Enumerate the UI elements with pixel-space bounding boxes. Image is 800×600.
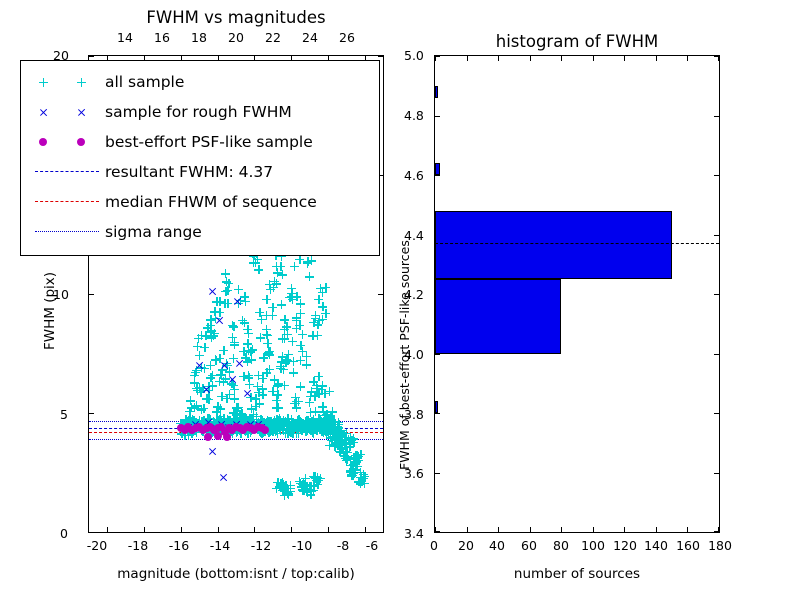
left-ytick-1: 5 <box>60 407 68 422</box>
left-yaxis-label: FWHM (pix) <box>42 272 58 350</box>
axis-tick <box>714 294 719 295</box>
axis-tick <box>254 527 255 532</box>
axis-tick <box>624 56 625 61</box>
histogram-bar <box>435 211 672 279</box>
data-point-all-sample <box>257 315 266 324</box>
plus-icon <box>39 78 48 87</box>
legend-item-all-sample: all sample <box>29 67 371 97</box>
right-xtick-7: 140 <box>644 538 668 553</box>
data-point-all-sample <box>268 387 277 396</box>
plus-icon <box>77 78 86 87</box>
data-point-rough-fwhm <box>208 447 217 456</box>
right-ytick-7: 4.8 <box>404 108 424 123</box>
right-ytick-0: 3.4 <box>404 526 424 541</box>
data-point-rough-fwhm <box>233 297 242 306</box>
data-point-all-sample <box>264 348 273 357</box>
axis-tick <box>656 527 657 532</box>
figure-canvas: FWHM vs magnitudes 14 16 18 20 22 24 26 … <box>0 0 800 600</box>
left-xtop-tick-0: 14 <box>117 30 133 45</box>
right-xtick-1: 20 <box>458 538 474 553</box>
data-point-all-sample <box>280 315 289 324</box>
data-point-all-sample <box>296 341 305 350</box>
data-point-rough-fwhm <box>202 385 211 394</box>
axis-tick <box>378 294 383 295</box>
left-xbot-tick-6: -8 <box>337 538 349 553</box>
axis-tick <box>378 56 383 57</box>
circle-marker-icon <box>77 138 85 146</box>
axis-tick <box>378 532 383 533</box>
legend-symbol-plus <box>29 72 105 92</box>
axis-tick <box>530 527 531 532</box>
data-point-rough-fwhm <box>228 375 237 384</box>
data-point-all-sample <box>243 325 252 334</box>
legend-symbol-dashed-red <box>29 192 105 212</box>
legend-item-sigma-range: sigma range <box>29 217 371 247</box>
histogram-bar <box>435 279 561 353</box>
right-histogram-plot <box>434 55 720 533</box>
axis-tick <box>714 531 719 532</box>
axis-tick <box>714 413 719 414</box>
left-xtop-tick-3: 20 <box>228 30 244 45</box>
axis-tick <box>561 56 562 61</box>
data-point-all-sample <box>296 382 305 391</box>
data-point-psf-like <box>214 432 222 440</box>
legend-item-median-fwhm: median FHWM of sequence <box>29 187 371 217</box>
data-point-all-sample <box>272 396 281 405</box>
dashed-line-icon <box>35 171 99 172</box>
data-point-rough-fwhm <box>195 361 204 370</box>
data-point-all-sample <box>195 351 204 360</box>
data-point-all-sample <box>187 403 196 412</box>
right-xtick-5: 100 <box>581 538 605 553</box>
right-ytick-8: 5.0 <box>404 48 424 63</box>
right-xtick-3: 60 <box>521 538 537 553</box>
legend-symbol-dashed-blue <box>29 162 105 182</box>
axis-tick <box>89 294 94 295</box>
data-point-all-sample <box>230 340 239 349</box>
data-point-all-sample <box>265 365 274 374</box>
axis-tick <box>656 56 657 61</box>
left-xtop-tick-6: 26 <box>339 30 355 45</box>
axis-tick <box>144 527 145 532</box>
data-point-all-sample <box>273 268 282 277</box>
axis-tick <box>435 354 440 355</box>
legend-label-3: resultant FWHM: 4.37 <box>105 163 273 181</box>
legend-label-5: sigma range <box>105 223 202 241</box>
legend-label-2: best-effort PSF-like sample <box>105 133 313 151</box>
axis-tick <box>714 56 719 57</box>
data-point-all-sample <box>321 283 330 292</box>
data-point-all-sample <box>289 368 298 377</box>
right-xtick-8: 160 <box>676 538 700 553</box>
left-xbot-tick-2: -16 <box>169 538 189 553</box>
data-point-all-sample <box>314 295 323 304</box>
reference-line <box>435 243 719 244</box>
data-point-rough-fwhm <box>219 473 228 482</box>
data-point-all-sample <box>280 482 289 491</box>
dashdot-line-icon <box>35 231 99 232</box>
axis-tick <box>498 527 499 532</box>
data-point-all-sample <box>268 303 277 312</box>
axis-tick <box>498 56 499 61</box>
data-point-all-sample <box>351 454 360 463</box>
histogram-bar <box>435 86 438 98</box>
left-xtop-tick-2: 18 <box>191 30 207 45</box>
data-point-all-sample <box>302 352 311 361</box>
data-point-rough-fwhm <box>208 287 217 296</box>
axis-tick <box>365 527 366 532</box>
axis-tick <box>687 56 688 61</box>
axis-tick <box>378 413 383 414</box>
data-point-all-sample <box>222 277 231 286</box>
axis-tick <box>593 56 594 61</box>
axis-tick <box>687 527 688 532</box>
dashed-line-icon <box>35 201 99 202</box>
axis-tick <box>435 175 440 176</box>
axis-tick <box>435 116 440 117</box>
data-point-all-sample <box>272 279 281 288</box>
data-point-all-sample <box>305 272 314 281</box>
axis-tick <box>435 531 440 532</box>
legend-label-0: all sample <box>105 73 184 91</box>
axis-tick <box>624 527 625 532</box>
data-point-all-sample <box>307 256 316 265</box>
data-point-all-sample <box>210 329 219 338</box>
right-xaxis-label: number of sources <box>514 566 640 582</box>
data-point-all-sample <box>193 342 202 351</box>
left-xbot-tick-5: -10 <box>292 538 312 553</box>
legend-label-4: median FHWM of sequence <box>105 193 317 211</box>
axis-tick <box>593 527 594 532</box>
axis-tick <box>530 56 531 61</box>
left-ytick-0: 0 <box>60 526 68 541</box>
left-xbot-tick-3: -14 <box>210 538 230 553</box>
axis-tick <box>714 354 719 355</box>
data-point-all-sample <box>318 315 327 324</box>
left-xtop-tick-4: 22 <box>265 30 281 45</box>
data-point-rough-fwhm <box>243 389 252 398</box>
right-xtick-2: 40 <box>489 538 505 553</box>
legend-item-rough-fwhm: sample for rough FWHM <box>29 97 371 127</box>
data-point-all-sample <box>223 299 232 308</box>
left-xtop-tick-5: 24 <box>302 30 318 45</box>
x-marker-icon <box>39 108 48 117</box>
data-point-rough-fwhm <box>215 316 224 325</box>
right-xtick-6: 120 <box>613 538 637 553</box>
legend-symbol-dot <box>29 132 105 152</box>
axis-tick <box>435 413 440 414</box>
axis-tick <box>291 527 292 532</box>
data-point-all-sample <box>310 473 319 482</box>
legend: all sample sample for rough FWHM best-ef… <box>20 60 380 256</box>
data-point-all-sample <box>246 347 255 356</box>
axis-tick <box>89 56 94 57</box>
axis-tick <box>89 413 94 414</box>
data-point-all-sample <box>291 393 300 402</box>
axis-tick <box>467 56 468 61</box>
data-point-all-sample <box>197 405 206 414</box>
axis-tick <box>435 473 440 474</box>
left-panel-title: FWHM vs magnitudes <box>146 8 325 27</box>
legend-symbol-dashdot-blue <box>29 222 105 242</box>
axis-tick <box>435 56 440 57</box>
left-xbot-tick-0: -20 <box>87 538 107 553</box>
circle-marker-icon <box>39 138 47 146</box>
data-point-all-sample <box>314 372 323 381</box>
data-point-all-sample <box>258 390 267 399</box>
legend-item-psf-like: best-effort PSF-like sample <box>29 127 371 157</box>
left-xaxis-label: magnitude (bottom:isnt / top:calib) <box>117 566 354 582</box>
histogram-bar <box>435 401 438 413</box>
legend-label-1: sample for rough FWHM <box>105 103 292 121</box>
data-point-all-sample <box>359 470 368 479</box>
data-point-rough-fwhm <box>220 361 229 370</box>
right-xtick-4: 80 <box>553 538 569 553</box>
data-point-all-sample <box>223 286 232 295</box>
axis-tick <box>218 527 219 532</box>
data-point-all-sample <box>263 339 272 348</box>
x-marker-icon <box>77 108 86 117</box>
right-ytick-6: 4.6 <box>404 168 424 183</box>
axis-tick <box>328 527 329 532</box>
data-point-rough-fwhm <box>235 359 244 368</box>
data-point-all-sample <box>292 313 301 322</box>
data-point-all-sample <box>325 387 334 396</box>
data-point-all-sample <box>302 360 311 369</box>
axis-tick <box>561 527 562 532</box>
data-point-all-sample <box>247 355 256 364</box>
data-point-psf-like <box>223 433 231 441</box>
left-xtop-tick-1: 16 <box>154 30 170 45</box>
axis-tick <box>714 473 719 474</box>
data-point-all-sample <box>255 399 264 408</box>
histogram-bar <box>435 163 440 175</box>
data-point-all-sample <box>308 331 317 340</box>
right-yaxis-label: FWHM of best-effort PSF-like sources <box>397 240 412 470</box>
axis-tick <box>714 235 719 236</box>
legend-item-resultant-fwhm: resultant FWHM: 4.37 <box>29 157 371 187</box>
data-point-all-sample <box>274 379 283 388</box>
legend-symbol-x <box>29 102 105 122</box>
axis-tick <box>107 527 108 532</box>
axis-tick <box>89 532 94 533</box>
axis-tick <box>467 527 468 532</box>
right-panel-title: histogram of FWHM <box>496 32 659 51</box>
right-xtick-0: 0 <box>430 538 438 553</box>
data-point-all-sample <box>229 322 238 331</box>
left-xbot-tick-7: -6 <box>366 538 378 553</box>
right-xtick-9: 180 <box>708 538 732 553</box>
left-xbot-tick-4: -12 <box>251 538 271 553</box>
data-point-all-sample <box>298 330 307 339</box>
data-point-all-sample <box>230 394 239 403</box>
data-point-all-sample <box>292 292 301 301</box>
axis-tick <box>714 116 719 117</box>
left-xbot-tick-1: -18 <box>128 538 148 553</box>
axis-tick <box>714 175 719 176</box>
axis-tick <box>181 527 182 532</box>
data-point-all-sample <box>249 258 258 267</box>
